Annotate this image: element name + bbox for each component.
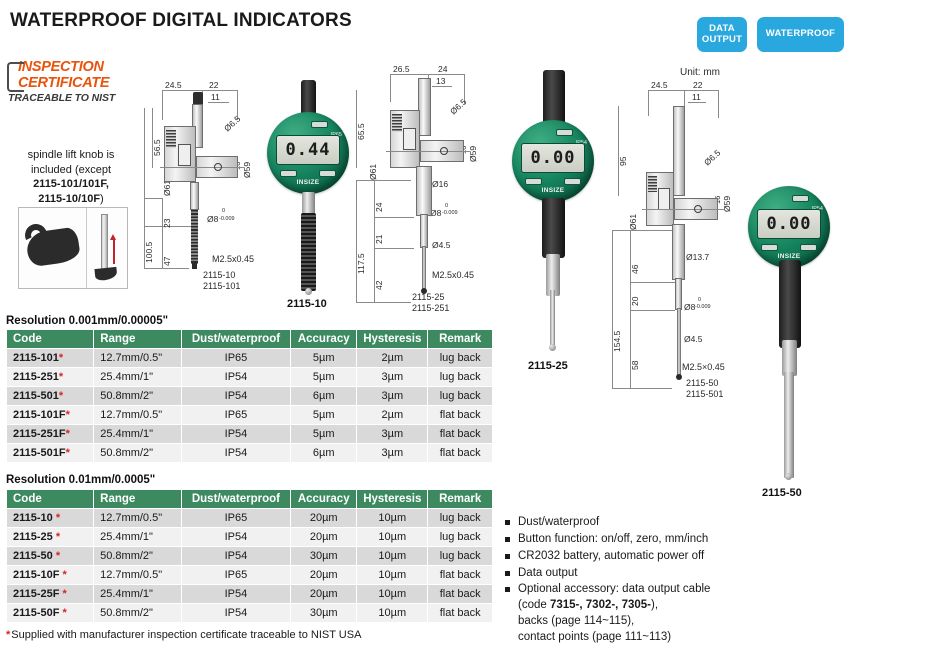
- upper-stem-shape: [673, 106, 685, 196]
- table1-r0-accuracy: 5µm: [291, 349, 357, 368]
- table2-col-dust: Dust/waterproof: [181, 490, 291, 509]
- photo2-sleeve-shape: [542, 198, 565, 258]
- lcd-shape: [403, 128, 416, 150]
- table1-r2-hysteresis: 3µm: [357, 387, 428, 406]
- dim-42-seg: 42: [374, 281, 384, 290]
- drawing2-code-2: 2115-251: [412, 303, 449, 313]
- table2-col-hysteresis: Hysteresis: [357, 490, 428, 509]
- center-line: [160, 167, 244, 168]
- table2-r3-accuracy: 20µm: [291, 566, 357, 585]
- table1-r1-remark: lug back: [428, 368, 493, 387]
- knob-hook-shape: [94, 267, 117, 281]
- table2-r5-accuracy: 30µm: [291, 604, 357, 623]
- badge-data-output-line1: DATA: [709, 23, 735, 34]
- lcd-shape: [178, 144, 191, 166]
- body-grill-shape: [648, 176, 657, 192]
- table1-r4-range: 25.4mm/1": [94, 425, 181, 444]
- photo1-thread-shape: [301, 213, 316, 291]
- table1-col-remark: Remark: [428, 330, 493, 349]
- body-grill-shape: [392, 114, 402, 132]
- table-row: 2115-10 * 12.7mm/0.5" IP65 20µm 10µm lug…: [7, 509, 493, 528]
- table-row: 2115-10F * 12.7mm/0.5" IP65 20µm 10µm fl…: [7, 566, 493, 585]
- dim-20-seg: 20: [630, 297, 640, 306]
- table2-r4-range: 25.4mm/1": [94, 585, 181, 604]
- table2-col-remark: Remark: [428, 490, 493, 509]
- zero-button[interactable]: [311, 121, 328, 128]
- table2-r0-hysteresis: 10µm: [357, 509, 428, 528]
- photo-2115-10: IP65 0.44 INSIZE 2115-10: [255, 80, 365, 310]
- dim-11: 11: [211, 92, 220, 102]
- dim-dia-13-7: Ø13.7: [686, 252, 709, 262]
- dim-24-seg: 24: [374, 203, 384, 212]
- footnote-text: Supplied with manufacturer inspection ce…: [11, 629, 361, 641]
- dim-line: [432, 86, 452, 87]
- dim-dia-4-5: Ø4.5: [432, 240, 450, 250]
- table2-r0-code: 2115-10 *: [7, 509, 94, 528]
- table2-col-code: Code: [7, 490, 94, 509]
- photo2-brand: INSIZE: [512, 187, 594, 194]
- contact-tip-shape: [676, 374, 682, 380]
- table1-col-code: Code: [7, 330, 94, 349]
- table1-r3-hysteresis: 2µm: [357, 406, 428, 425]
- table-row: 2115-25F * 25.4mm/1" IP54 20µm 10µm flat…: [7, 585, 493, 604]
- table2-r3-code: 2115-10F *: [7, 566, 94, 585]
- table1-r3-accuracy: 5µm: [291, 406, 357, 425]
- optional-codes: 7315-, 7302-, 7305-: [550, 599, 651, 611]
- photo1-gauge-head: IP65 0.44 INSIZE: [267, 112, 349, 194]
- table2-r3-remark: flat back: [428, 566, 493, 585]
- dim-line: [648, 90, 649, 116]
- dim-tol-bottom: -0.009: [219, 216, 235, 222]
- table1-r4-code: 2115-251F*: [7, 425, 94, 444]
- dim-dia-59: Ø59: [242, 162, 252, 178]
- table2-r5-code: 2115-50F *: [7, 604, 94, 623]
- dim-line: [208, 102, 229, 103]
- dim-dia-8: Ø8: [207, 214, 218, 224]
- dim-line: [612, 230, 672, 231]
- mounting-hole-shape: [694, 205, 702, 213]
- knob-note-codes1: 2115-101/101F,: [33, 178, 109, 190]
- table2-r5-hysteresis: 10µm: [357, 604, 428, 623]
- dim-line: [612, 388, 672, 389]
- table1-col-accuracy: Accuracy: [291, 330, 357, 349]
- photo1-brand: INSIZE: [267, 179, 349, 186]
- table1-title: Resolution 0.001mm/0.00005": [6, 315, 168, 327]
- drawing3-code-labels: 2115-50 2115-501: [686, 378, 723, 401]
- table1-r5-remark: flat back: [428, 444, 493, 463]
- table1-r2-remark: lug back: [428, 387, 493, 406]
- table1-r1-dust: IP54: [181, 368, 291, 387]
- dim-dia-6-5: Ø6.5: [448, 97, 468, 117]
- certificate-subtitle: TRACEABLE TO NIST: [8, 92, 141, 104]
- table2-title: Resolution 0.01mm/0.0005": [6, 474, 155, 486]
- table1-r1-code: 2115-251*: [7, 368, 94, 387]
- knob-note-line2: included (except: [31, 164, 111, 176]
- unit-label: Unit: mm: [680, 67, 720, 78]
- table1-r0-code: 2115-101*: [7, 349, 94, 368]
- table1-r2-dust: IP54: [181, 387, 291, 406]
- optional-code-post: ),: [651, 599, 658, 611]
- table2-r3-range: 12.7mm/0.5": [94, 566, 181, 585]
- dim-line: [356, 180, 357, 302]
- table1-r2-range: 50.8mm/2": [94, 387, 181, 406]
- dim-line: [428, 74, 464, 75]
- table1-col-hysteresis: Hysteresis: [357, 330, 428, 349]
- knob-note-codes2: 2115-10/10F: [38, 193, 100, 205]
- table2-r1-dust: IP54: [181, 528, 291, 547]
- table2-r4-code: 2115-25F *: [7, 585, 94, 604]
- table-row: 2115-251F* 25.4mm/1" IP54 5µm 3µm flat b…: [7, 425, 493, 444]
- table-row: 2115-50F * 50.8mm/2" IP54 30µm 10µm flat…: [7, 604, 493, 623]
- dim-tol-top: 0: [222, 208, 225, 214]
- spec-table-resolution-0001: Code Range Dust/waterproof Accuracy Hyst…: [6, 329, 493, 463]
- table2-r1-hysteresis: 10µm: [357, 528, 428, 547]
- feature-item-battery: CR2032 battery, automatic power off: [505, 549, 905, 565]
- photo3-shaft-shape: [784, 372, 794, 478]
- mm-inch-button[interactable]: [564, 178, 581, 185]
- table2-r1-range: 25.4mm/1": [94, 528, 181, 547]
- table2-body: 2115-10 * 12.7mm/0.5" IP65 20µm 10µm lug…: [7, 509, 493, 623]
- table2-r1-accuracy: 20µm: [291, 528, 357, 547]
- table1-r5-range: 50.8mm/2": [94, 444, 181, 463]
- drawing2-code-1: 2115-25: [412, 292, 444, 302]
- table2-r2-dust: IP54: [181, 547, 291, 566]
- table-row: 2115-50 * 50.8mm/2" IP54 30µm 10µm lug b…: [7, 547, 493, 566]
- table1-r0-remark: lug back: [428, 349, 493, 368]
- dim-dia-61: Ø61: [162, 180, 172, 196]
- dim-line: [630, 282, 675, 283]
- table2-r2-code: 2115-50 *: [7, 547, 94, 566]
- dim-dia-8: Ø8: [684, 302, 695, 312]
- center-line: [642, 209, 724, 210]
- dim-line: [630, 310, 675, 311]
- zero-button[interactable]: [556, 129, 573, 136]
- dim-line: [162, 90, 202, 91]
- dim-21-seg: 21: [374, 235, 384, 244]
- photo2-gauge-head: IP54 0.00 INSIZE: [512, 120, 594, 202]
- optional-accessory-lead: Optional accessory: data output cable: [518, 583, 710, 595]
- contact-point-shape: [422, 246, 426, 290]
- dim-58-seg: 58: [630, 361, 640, 370]
- dim-line: [688, 102, 706, 103]
- photo1-label: 2115-10: [287, 298, 327, 310]
- drawing-2115-10: 24.5 22 11 56.5 Ø61 100.5 23 47 Ø6.5 16 …: [140, 78, 265, 308]
- drawing1-code-labels: 2115-10 2115-101: [203, 270, 240, 293]
- dim-dia-61: Ø61: [368, 164, 378, 180]
- photo-2115-50: IP54 0.00 INSIZE 2115-50: [730, 182, 850, 502]
- table1-r0-dust: IP65: [181, 349, 291, 368]
- table2-r1-code: 2115-25 *: [7, 528, 94, 547]
- dim-dia-6-5: Ø6.5: [702, 148, 722, 168]
- optional-backs-line: backs (page 114~115),: [518, 615, 634, 627]
- table1-r2-accuracy: 6µm: [291, 387, 357, 406]
- table1-header-row: Code Range Dust/waterproof Accuracy Hyst…: [7, 330, 493, 349]
- table2-r0-dust: IP65: [181, 509, 291, 528]
- dim-line: [356, 180, 411, 181]
- dim-line: [618, 106, 619, 196]
- feature-item-data-output: Data output: [505, 566, 905, 582]
- lcd-shape: [658, 188, 670, 210]
- photo1-contact-tip: [305, 288, 312, 295]
- dim-line: [390, 74, 428, 75]
- table2-r1-remark: lug back: [428, 528, 493, 547]
- onoff-button[interactable]: [525, 178, 542, 185]
- table1-r4-dust: IP54: [181, 425, 291, 444]
- feature-item-button-function: Button function: on/off, zero, mm/inch: [505, 532, 905, 548]
- dim-line: [162, 90, 163, 120]
- mounting-hole-shape: [440, 147, 448, 155]
- dim-23: 23: [162, 219, 172, 228]
- table1-body: 2115-101* 12.7mm/0.5" IP65 5µm 2µm lug b…: [7, 349, 493, 463]
- photo2-contact-tip: [549, 344, 556, 351]
- spindle-lift-knob-note: spindle lift knob is included (except 21…: [4, 148, 138, 206]
- footnote: *Supplied with manufacturer inspection c…: [6, 629, 361, 641]
- drawing3-code-1: 2115-50: [686, 378, 718, 388]
- thread-shaft-shape: [191, 210, 198, 264]
- dim-line: [202, 90, 237, 91]
- dim-line: [390, 74, 391, 102]
- onoff-button[interactable]: [761, 244, 778, 251]
- dim-dia-16: Ø16: [432, 179, 448, 189]
- table1-r3-dust: IP65: [181, 406, 291, 425]
- knob-note-line1: spindle lift knob is: [28, 149, 115, 161]
- catalog-page: WATERPROOF DIGITAL INDICATORS DATA OUTPU…: [0, 0, 927, 663]
- spindle-rod-shape: [101, 214, 108, 276]
- table2-r0-remark: lug back: [428, 509, 493, 528]
- feature-item-optional-accessory: Optional accessory: data output cable (c…: [505, 582, 905, 645]
- dim-tol-bottom: -0.009: [695, 304, 711, 310]
- table1-r0-range: 12.7mm/0.5": [94, 349, 181, 368]
- knob-photo-pair: [18, 207, 128, 289]
- dim-tol-bottom: -0.009: [442, 210, 458, 216]
- mm-inch-button[interactable]: [800, 244, 817, 251]
- dim-line: [718, 90, 719, 118]
- table-row: 2115-101* 12.7mm/0.5" IP65 5µm 2µm lug b…: [7, 349, 493, 368]
- dim-65-5: 65.5: [356, 123, 366, 140]
- table2-header-row: Code Range Dust/waterproof Accuracy Hyst…: [7, 490, 493, 509]
- center-line: [386, 151, 470, 152]
- dim-line: [648, 90, 684, 91]
- optional-code-pre: (code: [518, 599, 550, 611]
- feature-list: Dust/waterproof Button function: on/off,…: [505, 515, 905, 647]
- dim-line: [612, 230, 613, 388]
- dim-24-5: 24.5: [165, 80, 182, 90]
- dim-22: 22: [693, 80, 702, 90]
- drawing-2115-25: 26.5 24 13 65.5 Ø61 117.5 24 21 42 Ø6.5 …: [352, 62, 492, 312]
- table2-r3-dust: IP65: [181, 566, 291, 585]
- dim-line: [374, 217, 414, 218]
- page-title: WATERPROOF DIGITAL INDICATORS: [10, 10, 352, 32]
- table1-r5-dust: IP54: [181, 444, 291, 463]
- dim-dia-6-5: Ø6.5: [222, 114, 242, 134]
- mounting-hole-shape: [214, 163, 222, 171]
- photo3-contact-tip: [785, 473, 792, 480]
- dim-line: [356, 302, 411, 303]
- certificate-line1: INSPECTION: [18, 60, 141, 75]
- photo3-collar-shape: [782, 340, 797, 376]
- certificate-line2: CERTIFICATE: [18, 76, 141, 91]
- table1-r4-accuracy: 5µm: [291, 425, 357, 444]
- badge-waterproof: WATERPROOF: [757, 17, 844, 52]
- dim-95: 95: [618, 157, 628, 166]
- sleeve-shape: [416, 166, 432, 216]
- table2-r5-remark: flat back: [428, 604, 493, 623]
- table1-r1-hysteresis: 3µm: [357, 368, 428, 387]
- drawing1-code-2: 2115-101: [203, 281, 240, 291]
- dim-line: [144, 268, 189, 269]
- table2-r3-hysteresis: 10µm: [357, 566, 428, 585]
- dim-22: 22: [209, 80, 218, 90]
- table1-col-range: Range: [94, 330, 181, 349]
- dim-line: [152, 108, 153, 168]
- badge-data-output-line2: OUTPUT: [702, 34, 742, 45]
- knob-photo-mounted: [87, 208, 127, 288]
- table2-r4-remark: flat back: [428, 585, 493, 604]
- dim-26-5: 26.5: [393, 64, 410, 74]
- dim-24-5: 24.5: [651, 80, 668, 90]
- dim-tol-top: 0: [445, 203, 448, 209]
- table1-r5-hysteresis: 3µm: [357, 444, 428, 463]
- spec-table-resolution-001: Code Range Dust/waterproof Accuracy Hyst…: [6, 489, 493, 623]
- table2-r5-dust: IP54: [181, 604, 291, 623]
- photo2-display-value: 0.00: [531, 148, 576, 168]
- table2-r5-range: 50.8mm/2": [94, 604, 181, 623]
- footnote-asterisk: *: [6, 629, 10, 641]
- table-row: 2115-501* 50.8mm/2" IP54 6µm 3µm lug bac…: [7, 387, 493, 406]
- table-row: 2115-101F* 12.7mm/0.5" IP65 5µm 2µm flat…: [7, 406, 493, 425]
- dim-dia-61: Ø61: [628, 214, 638, 230]
- photo3-display-value: 0.00: [767, 214, 812, 234]
- photo3-lcd-display: 0.00: [757, 209, 821, 239]
- table-row: 2115-501F* 50.8mm/2" IP54 6µm 3µm flat b…: [7, 444, 493, 463]
- table1-r2-code: 2115-501*: [7, 387, 94, 406]
- photo3-gauge-head: IP54 0.00 INSIZE: [748, 186, 830, 268]
- feature-item-dust-waterproof: Dust/waterproof: [505, 515, 905, 531]
- photo1-display-value: 0.44: [286, 140, 331, 160]
- contact-tip-shape: [192, 263, 197, 269]
- table2-r2-hysteresis: 10µm: [357, 547, 428, 566]
- optional-contact-points-line: contact points (page 111~113): [518, 631, 671, 643]
- table1-r0-hysteresis: 2µm: [357, 349, 428, 368]
- table-row: 2115-251* 25.4mm/1" IP54 5µm 3µm lug bac…: [7, 368, 493, 387]
- onoff-button[interactable]: [280, 170, 297, 177]
- photo-2115-25: IP54 0.00 INSIZE 2115-25: [498, 62, 613, 392]
- table1-r1-accuracy: 5µm: [291, 368, 357, 387]
- table2-r4-hysteresis: 10µm: [357, 585, 428, 604]
- dim-thread-m25: M2.5x0.45: [432, 270, 474, 280]
- dim-47: 47: [162, 257, 172, 266]
- table2-col-range: Range: [94, 490, 181, 509]
- table1-r3-code: 2115-101F*: [7, 406, 94, 425]
- table1-r3-range: 12.7mm/0.5": [94, 406, 181, 425]
- dim-154-5: 154.5: [612, 331, 622, 352]
- table2-r0-range: 12.7mm/0.5": [94, 509, 181, 528]
- dim-dia-59: Ø59: [468, 146, 478, 162]
- table2-r2-accuracy: 30µm: [291, 547, 357, 566]
- zero-button[interactable]: [792, 195, 809, 202]
- dim-line: [684, 90, 685, 106]
- dim-thread-m25: M2.5×0.45: [682, 362, 725, 372]
- dim-117-5: 117.5: [356, 253, 366, 274]
- body-grill-shape: [166, 130, 176, 148]
- dim-thread-m25: M2.5x0.45: [212, 254, 254, 264]
- contact-point-shape: [677, 308, 681, 376]
- table-row: 2115-25 * 25.4mm/1" IP54 20µm 10µm lug b…: [7, 528, 493, 547]
- table1-r1-range: 25.4mm/1": [94, 368, 181, 387]
- badge-data-output: DATA OUTPUT: [697, 17, 747, 52]
- table1-r4-hysteresis: 3µm: [357, 425, 428, 444]
- dim-100-5: 100.5: [144, 242, 154, 263]
- photo2-contact-point: [550, 290, 555, 348]
- photo2-label: 2115-25: [528, 360, 568, 372]
- dim-56-5: 56.5: [152, 139, 162, 156]
- table2-col-accuracy: Accuracy: [291, 490, 357, 509]
- dim-line: [684, 90, 718, 91]
- dim-46-seg: 46: [630, 265, 640, 274]
- knob-photo-detail: [19, 208, 87, 288]
- photo3-sleeve-shape: [779, 260, 801, 348]
- table1-r4-remark: flat back: [428, 425, 493, 444]
- table2-r0-accuracy: 20µm: [291, 509, 357, 528]
- table2-r2-remark: lug back: [428, 547, 493, 566]
- badge-waterproof-label: WATERPROOF: [766, 29, 835, 40]
- table1-r3-remark: flat back: [428, 406, 493, 425]
- dim-24: 24: [438, 64, 447, 74]
- lower-stem-shape: [420, 214, 428, 248]
- dim-line: [374, 248, 414, 249]
- table1-r5-code: 2115-501F*: [7, 444, 94, 463]
- drawing3-code-2: 2115-501: [686, 389, 723, 399]
- table1-col-dust: Dust/waterproof: [181, 330, 291, 349]
- table2-r4-dust: IP54: [181, 585, 291, 604]
- dim-line: [144, 198, 162, 199]
- lower-stem-shape: [675, 278, 682, 310]
- table2-r4-accuracy: 20µm: [291, 585, 357, 604]
- photo1-lcd-display: 0.44: [276, 135, 340, 165]
- inspection-certificate-logo: INSPECTION CERTIFICATE TRACEABLE TO NIST: [6, 60, 141, 104]
- table1-r5-accuracy: 6µm: [291, 444, 357, 463]
- photo2-lcd-display: 0.00: [521, 143, 585, 173]
- dim-13: 13: [436, 76, 445, 86]
- dim-11: 11: [692, 92, 701, 102]
- drawing2-code-labels: 2115-25 2115-251: [412, 292, 449, 315]
- dim-dia-4-5: Ø4.5: [684, 334, 702, 344]
- knob-note-paren: ): [100, 193, 104, 205]
- lower-stem-shape: [190, 182, 199, 210]
- photo3-label: 2115-50: [762, 487, 802, 499]
- mm-inch-button[interactable]: [319, 170, 336, 177]
- table2-r2-range: 50.8mm/2": [94, 547, 181, 566]
- drawing1-code-1: 2115-10: [203, 270, 235, 280]
- photo3-brand: INSIZE: [748, 253, 830, 260]
- sleeve-shape: [672, 224, 685, 280]
- dim-tol-top: 0: [698, 297, 701, 303]
- certificate-bracket-icon: [7, 62, 24, 92]
